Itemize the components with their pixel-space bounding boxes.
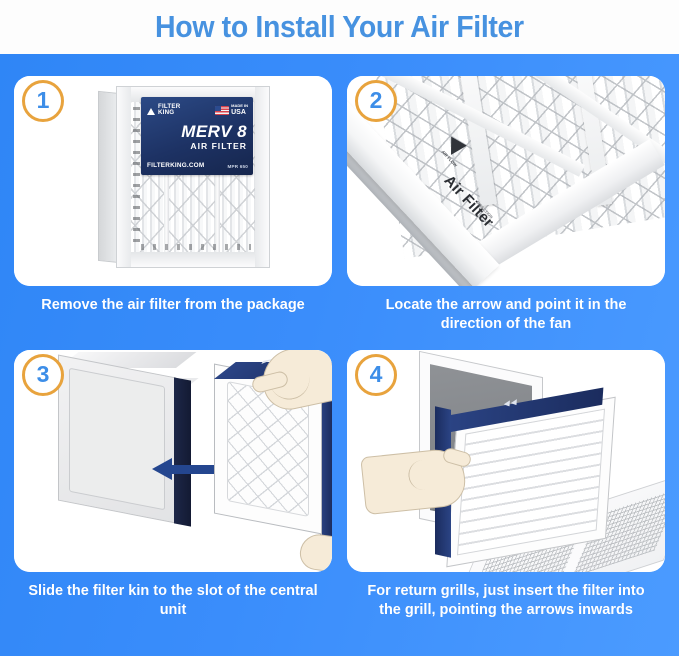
- arrow-head: [152, 458, 172, 480]
- mpr-rating: MPR 650: [227, 164, 248, 169]
- step-3-caption: Slide the filter kin to the slot of the …: [14, 582, 332, 620]
- step-number-badge-1: 1: [22, 80, 64, 122]
- step-2-caption: Locate the arrow and point it in the dir…: [347, 296, 665, 334]
- steps-grid: FILTER KING MADE IN USA: [0, 54, 679, 656]
- central-unit-slot-opening: [174, 377, 191, 526]
- arrow-shaft: [170, 465, 216, 474]
- label-subtitle: AIR FILTER: [141, 142, 247, 151]
- central-unit-face: [58, 355, 176, 524]
- step-1: FILTER KING MADE IN USA: [14, 76, 332, 346]
- filter-frame-right: [255, 87, 269, 267]
- label-top-row: FILTER KING MADE IN USA: [147, 102, 248, 118]
- hand-lower-graphic: [298, 532, 332, 572]
- step-3-card: 3: [14, 350, 332, 572]
- brand-name: FILTER KING: [158, 104, 180, 117]
- filter-frame-left: [117, 87, 131, 267]
- step-1-caption: Remove the air filter from the package: [14, 296, 332, 315]
- product-label: FILTER KING MADE IN USA: [141, 97, 253, 175]
- crown-icon: [147, 106, 156, 115]
- step-2-card: AIR FLOW Air Filter DIRECTION 2: [347, 76, 665, 286]
- step-2: AIR FLOW Air Filter DIRECTION 2 Locate t…: [347, 76, 665, 346]
- label-bottom-row: FILTERKING.COM MPR 650: [147, 162, 248, 169]
- central-unit-slot: [69, 368, 165, 511]
- step-1-card: FILTER KING MADE IN USA: [14, 76, 332, 286]
- brand-website: FILTERKING.COM: [147, 162, 204, 169]
- air-filter-graphic: FILTER KING MADE IN USA: [98, 86, 270, 268]
- step-4: 4 For return grills, just insert the fil…: [347, 350, 665, 632]
- grill-louvers: [457, 409, 605, 556]
- made-in-usa-text: MADE IN USA: [231, 104, 248, 116]
- page-title: How to Install Your Air Filter: [155, 11, 524, 43]
- step-number-badge-4: 4: [355, 354, 397, 396]
- brand-lockup: FILTER KING: [147, 104, 180, 117]
- step-number-3: 3: [37, 363, 50, 386]
- made-in-usa-badge: MADE IN USA: [215, 104, 248, 116]
- filter-frame-bottom: [117, 252, 269, 267]
- step-number-badge-2: 2: [355, 80, 397, 122]
- step-4-card: 4: [347, 350, 665, 572]
- usa-flag-icon: [215, 106, 229, 115]
- step-number-2: 2: [370, 89, 383, 112]
- step-number-4: 4: [370, 363, 383, 386]
- step-3: 3 Slide the filter kin to the slot of th…: [14, 350, 332, 632]
- airflow-arrow-icon: [503, 398, 520, 409]
- infographic-sheet: How to Install Your Air Filter: [0, 0, 679, 656]
- header-bar: How to Install Your Air Filter: [0, 0, 679, 54]
- filter-edge-tabs-left: [133, 107, 140, 247]
- step-4-caption: For return grills, just insert the filte…: [347, 582, 665, 620]
- step-number-1: 1: [37, 89, 50, 112]
- merv-rating: MERV 8: [141, 123, 247, 140]
- step-number-badge-3: 3: [22, 354, 64, 396]
- insert-direction-arrow-icon: [152, 458, 216, 480]
- filter-edge-tabs-bottom: [141, 244, 251, 250]
- filter-front-face: FILTER KING MADE IN USA: [116, 86, 270, 268]
